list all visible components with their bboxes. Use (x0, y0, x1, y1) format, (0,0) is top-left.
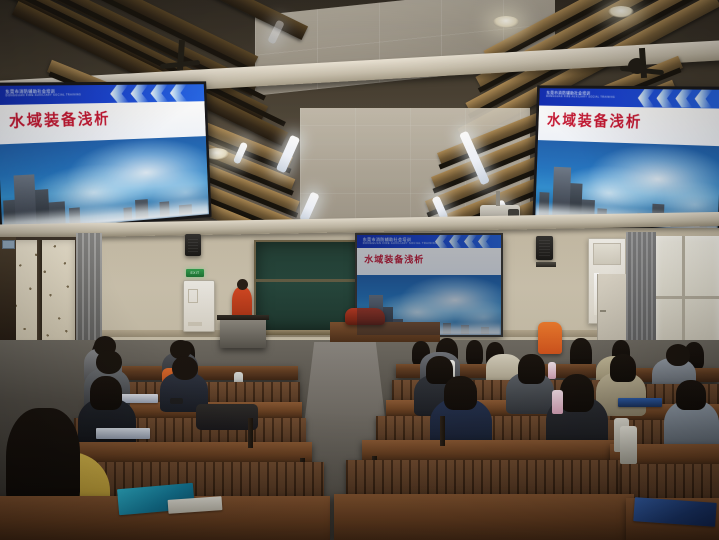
ac-vent (188, 289, 198, 303)
mobile-phone (170, 398, 183, 404)
slide-title: 水域装备浅析 (8, 107, 110, 131)
ceiling-lamp (608, 6, 634, 18)
bench-slats (620, 464, 719, 498)
chevron-icon (150, 84, 168, 102)
slide-photo (0, 136, 209, 232)
monitor-mount-hub (628, 58, 646, 74)
window-mullion (37, 240, 42, 346)
door-right[interactable] (597, 274, 627, 340)
presenter-head (237, 279, 248, 290)
podium-surface (217, 315, 269, 320)
air-conditioner-left[interactable] (183, 280, 215, 332)
chevron-icon (131, 85, 150, 103)
left-wall-monitor[interactable]: 东莞市消防辅助社会培训 DONGGUAN FIRE AUXILIARY SOCI… (0, 81, 212, 236)
slide-header-text: 东莞市消防辅助社会培训 DONGGUAN FIRE AUXILIARY SOCI… (5, 88, 81, 97)
slide-header-text: 东莞市消防辅助社会培训 DONGGUAN FIRE AUXILIARY SOCI… (546, 91, 615, 100)
podium (220, 318, 266, 348)
audience-person-head (90, 376, 122, 410)
desk-row-near (362, 440, 616, 462)
audience-person-head (518, 354, 545, 384)
audience-person-head (172, 356, 198, 380)
audience-person-head (96, 350, 122, 374)
chevron-icon (657, 89, 675, 107)
audience-person-head (666, 344, 690, 366)
book (618, 398, 662, 407)
bench-slats (346, 460, 626, 494)
chalkboard-divider (256, 279, 368, 282)
ac-panel (593, 243, 621, 265)
bench-row-front (620, 464, 719, 498)
desk-row-far (120, 366, 298, 380)
ac-label (188, 322, 202, 326)
classroom-photo: 东莞市消防辅助社会培训 DONGGUAN FIRE AUXILIARY SOCI… (0, 0, 719, 540)
wall-placard-left (2, 240, 15, 249)
audience-person-head (444, 376, 477, 410)
desk-leg (440, 416, 445, 446)
audience-person-head (676, 380, 706, 410)
chevron-icon (695, 90, 713, 109)
orange-backpack (538, 322, 562, 354)
window-mullion (656, 296, 719, 299)
thermos-front (620, 426, 637, 464)
audience-person-head (610, 354, 636, 382)
door-handle[interactable] (600, 310, 606, 312)
projection-dimming-overlay (357, 235, 501, 335)
chevron-icon (638, 89, 655, 107)
ceiling-lamp (493, 16, 519, 28)
bench-row-front (346, 460, 626, 494)
wall-shelf-right (536, 262, 556, 267)
chevron-icon (110, 85, 129, 103)
water-bottle (548, 362, 556, 379)
pink-water-bottle (552, 390, 563, 414)
audience-person-head (560, 374, 594, 412)
wall-panel-left-dark (0, 237, 16, 349)
curtain-left (76, 233, 102, 351)
chevron-icon (170, 84, 188, 101)
center-projection-screen: 东莞市消防辅助社会培训 DONGGUAN FIRE AUXILIARY SOCI… (355, 233, 503, 337)
chevron-icon (675, 89, 693, 107)
wall-speaker-right (536, 236, 553, 260)
desk-row-front (334, 494, 634, 540)
exit-sign: EXIT (186, 269, 204, 277)
slide-left: 东莞市消防辅助社会培训 DONGGUAN FIRE AUXILIARY SOCI… (0, 84, 209, 232)
book (96, 428, 150, 439)
audience-person-head (466, 340, 483, 366)
slide-title: 水域装备浅析 (547, 109, 643, 132)
desk-leg (248, 418, 253, 448)
slide-right: 东莞市消防辅助社会培训 DONGGUAN FIRE AUXILIARY SOCI… (535, 88, 719, 231)
wall-speaker-left (185, 234, 201, 256)
